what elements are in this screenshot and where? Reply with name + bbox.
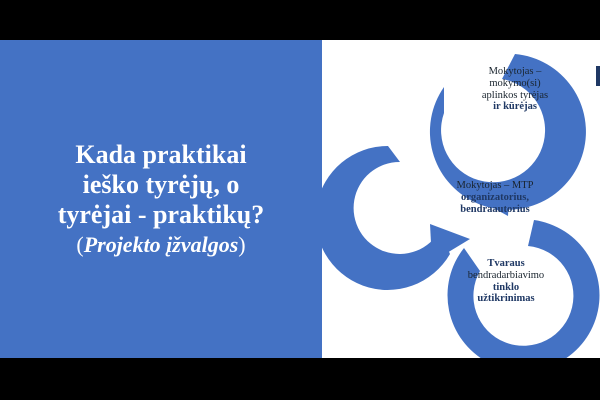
slide-root: Kada praktikai ieško tyrėjų, o tyrėjai -… xyxy=(0,0,600,400)
ring-top-line-3: aplinkos tyrėjas xyxy=(440,90,590,102)
ring-label-middle: Mokytojas – MTP organizatorius, bendraau… xyxy=(414,180,576,215)
ring-bottom-line-4: užtikrinimas xyxy=(426,293,586,305)
ring-middle-line-1: Mokytojas – MTP xyxy=(414,180,576,192)
subtitle-line: (Projekto įžvalgos) xyxy=(58,232,265,258)
cutoff-edge-glyph xyxy=(596,66,600,86)
title-line-3: tyrėjai - praktikų? xyxy=(58,200,265,230)
title-line-1: Kada praktikai xyxy=(58,140,265,170)
subtitle-paren-open: ( xyxy=(76,232,83,257)
page-title: Kada praktikai ieško tyrėjų, o tyrėjai -… xyxy=(58,140,265,259)
title-panel: Kada praktikai ieško tyrėjų, o tyrėjai -… xyxy=(0,40,322,358)
ring-bottom-line-1: Tvaraus xyxy=(426,258,586,270)
letterbox-bottom xyxy=(0,358,600,400)
ring-bottom-line-3: tinklo xyxy=(426,282,586,294)
ring-middle-line-2: organizatorius, xyxy=(414,192,576,204)
ring-middle-line-3: bendraautorius xyxy=(414,204,576,216)
title-line-2: ieško tyrėjų, o xyxy=(58,170,265,200)
diagram-area: Mokytojas – mokymo(si) aplinkos tyrėjas … xyxy=(322,40,600,358)
ring-top-line-2: mokymo(si) xyxy=(440,78,590,90)
subtitle-paren-close: ) xyxy=(238,232,245,257)
ring-label-top: Mokytojas – mokymo(si) aplinkos tyrėjas … xyxy=(440,66,590,113)
ring-top-line-4: ir kūrėjas xyxy=(440,101,590,113)
ring-bottom-line-2: bendradarbiavimo xyxy=(426,270,586,282)
letterbox-top xyxy=(0,0,600,40)
subtitle-text: Projekto įžvalgos xyxy=(84,232,239,257)
slide-canvas: Kada praktikai ieško tyrėjų, o tyrėjai -… xyxy=(0,40,600,358)
ring-top-line-1: Mokytojas – xyxy=(440,66,590,78)
ring-label-bottom: Tvaraus bendradarbiavimo tinklo užtikrin… xyxy=(426,258,586,305)
